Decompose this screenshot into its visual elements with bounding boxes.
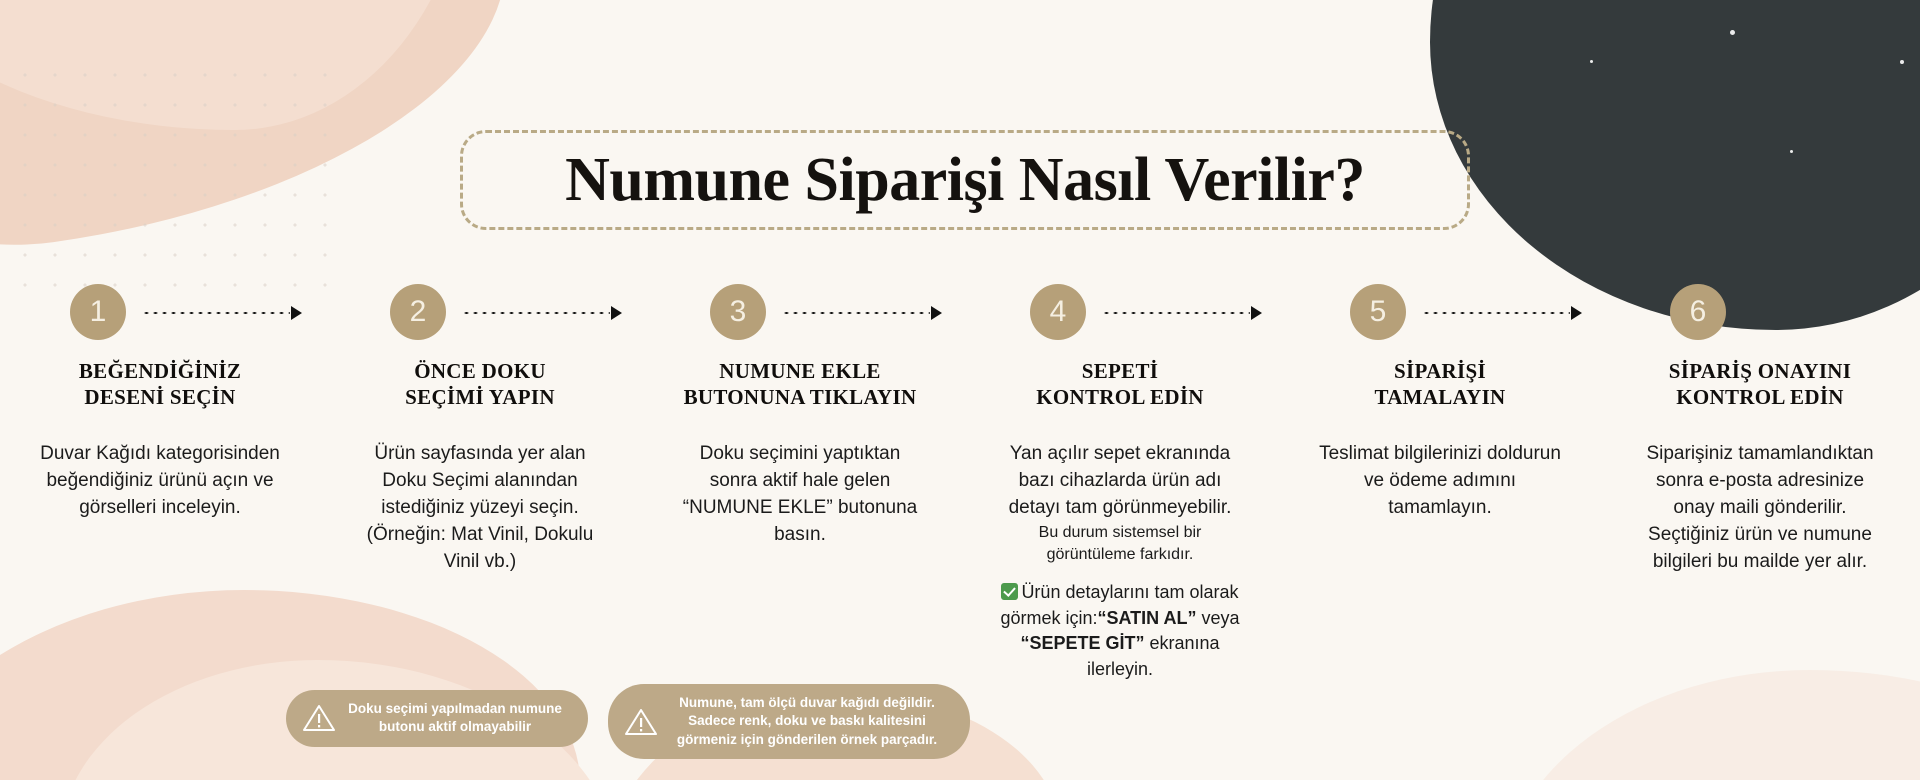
step-6-body: Siparişiniz tamamlandıktan sonra e-posta… — [1635, 441, 1885, 576]
dotted-arrow-connector-icon — [462, 308, 622, 318]
warning-badge-2-text: Numune, tam ölçü duvar kağıdı değildir. … — [666, 694, 948, 749]
step-2-badge-row: 2 — [320, 282, 640, 342]
step-number-badge: 1 — [70, 284, 126, 340]
step-6: 6SİPARİŞ ONAYINIKONTROL EDİNSiparişiniz … — [1600, 282, 1920, 682]
note-bold-buy-now: “SATIN AL” — [1098, 608, 1197, 628]
step-1: 1BEĞENDİĞİNİZDESENİ SEÇİNDuvar Kağıdı ka… — [0, 282, 320, 682]
step-2-body: Ürün sayfasında yer alan Doku Seçimi ala… — [355, 441, 605, 576]
warning-triangle-icon — [624, 707, 658, 737]
dotted-arrow-connector-icon — [1102, 308, 1262, 318]
step-3-body: Doku seçimini yaptıktan sonra aktif hale… — [675, 441, 925, 549]
warning-badge-1-text: Doku seçimi yapılmadan numune butonu akt… — [344, 700, 566, 737]
dotted-arrow-connector-icon — [142, 308, 302, 318]
step-number-badge: 6 — [1670, 284, 1726, 340]
step-number-badge: 3 — [710, 284, 766, 340]
step-6-badge-row: 6 — [1600, 282, 1920, 342]
check-green-icon — [1001, 583, 1018, 600]
note-bold-go-to-cart: “SEPETE GİT” — [1020, 633, 1144, 653]
step-6-title: SİPARİŞ ONAYINIKONTROL EDİN — [1610, 358, 1910, 411]
step-4: 4SEPETİKONTROL EDİNYan açılır sepet ekra… — [960, 282, 1280, 682]
step-1-body: Duvar Kağıdı kategorisinden beğendiğiniz… — [35, 441, 285, 522]
step-5-body: Teslimat bilgilerinizi doldurun ve ödeme… — [1315, 441, 1565, 522]
step-3-badge-row: 3 — [640, 282, 960, 342]
step-5-title: SİPARİŞİTAMALAYIN — [1290, 358, 1590, 411]
step-number-badge: 2 — [390, 284, 446, 340]
page-title: Numune Siparişi Nasıl Verilir? — [565, 145, 1365, 216]
step-3-title: NUMUNE EKLEBUTONUNA TIKLAYIN — [650, 358, 950, 411]
step-5-badge-row: 5 — [1280, 282, 1600, 342]
step-3: 3NUMUNE EKLEBUTONUNA TIKLAYINDoku seçimi… — [640, 282, 960, 682]
title-box: Numune Siparişi Nasıl Verilir? — [460, 130, 1470, 230]
step-2: 2ÖNCE DOKUSEÇİMİ YAPINÜrün sayfasında ye… — [320, 282, 640, 682]
step-number-badge: 5 — [1350, 284, 1406, 340]
step-5: 5SİPARİŞİTAMALAYINTeslimat bilgilerinizi… — [1280, 282, 1600, 682]
step-4-body-small: Bu durum sistemsel bir görüntüleme farkı… — [995, 522, 1245, 566]
dotted-arrow-connector-icon — [1422, 308, 1582, 318]
step-4-note: Ürün detaylarını tam olarak görmek için:… — [990, 580, 1250, 682]
step-2-title: ÖNCE DOKUSEÇİMİ YAPIN — [330, 358, 630, 411]
step-1-badge-row: 1 — [0, 282, 320, 342]
dotted-arrow-connector-icon — [782, 308, 942, 318]
warning-badge-2: Numune, tam ölçü duvar kağıdı değildir. … — [608, 684, 970, 759]
step-4-badge-row: 4 — [960, 282, 1280, 342]
step-number-badge: 4 — [1030, 284, 1086, 340]
step-4-body: Yan açılır sepet ekranında bazı cihazlar… — [995, 441, 1245, 566]
infographic-content: Numune Siparişi Nasıl Verilir? 1BEĞENDİĞ… — [0, 0, 1920, 780]
step-1-title: BEĞENDİĞİNİZDESENİ SEÇİN — [10, 358, 310, 411]
warning-badge-1: Doku seçimi yapılmadan numune butonu akt… — [286, 690, 588, 747]
warning-triangle-icon — [302, 703, 336, 733]
step-4-title: SEPETİKONTROL EDİN — [970, 358, 1270, 411]
steps-row: 1BEĞENDİĞİNİZDESENİ SEÇİNDuvar Kağıdı ka… — [0, 282, 1920, 682]
